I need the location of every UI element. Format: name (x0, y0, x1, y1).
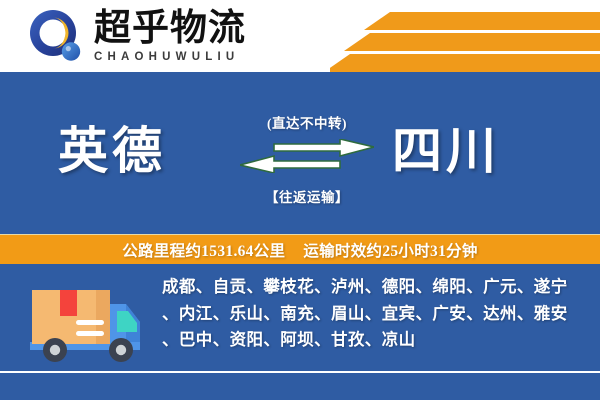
orange-speed-stripes-icon (330, 0, 600, 72)
coverage-panel: 成都、自贡、攀枝花、泸州、德阳、绵阳、广元、遂宁 、内江、乐山、南充、眉山、宜宾… (0, 264, 600, 400)
city-line: 成都、自贡、攀枝花、泸州、德阳、绵阳、广元、遂宁 (162, 274, 590, 301)
origin-city: 英德 (58, 124, 166, 178)
distance-text: 公路里程约1531.64公里 (122, 239, 285, 261)
circular-q-logo-icon (28, 8, 84, 64)
destination-city: 四川 (392, 124, 500, 178)
city-line: 、巴中、资阳、阿坝、甘孜、凉山 (162, 327, 590, 354)
route-middle-group: (直达不中转) 【往返运输】 (238, 110, 376, 206)
bottom-divider (0, 371, 600, 373)
direct-shipping-note: (直达不中转) (267, 112, 347, 132)
brand-logo-group: 超乎物流 CHAOHUWULIU (28, 8, 246, 64)
shipping-info-bar: 公路里程约1531.64公里 运输时效约25小时31分钟 (0, 234, 600, 264)
city-line: 、内江、乐山、南充、眉山、宜宾、广安、达州、雅安 (162, 301, 590, 328)
roundtrip-note: 【往返运输】 (265, 186, 349, 206)
bidirectional-arrow-icon (240, 139, 374, 178)
route-panel: 英德 (直达不中转) 【往返运输】 四川 (0, 72, 600, 232)
logistics-route-banner: 超乎物流 CHAOHUWULIU 英德 (直达不中转) 【往返运输】 四川 (0, 0, 600, 400)
brand-text-block: 超乎物流 CHAOHUWULIU (94, 9, 246, 64)
brand-name-en: CHAOHUWULIU (94, 50, 246, 64)
brand-name-cn: 超乎物流 (94, 9, 246, 49)
delivery-truck-icon (22, 280, 148, 366)
covered-cities-list: 成都、自贡、攀枝花、泸州、德阳、绵阳、广元、遂宁 、内江、乐山、南充、眉山、宜宾… (162, 274, 590, 354)
duration-text: 运输时效约25小时31分钟 (303, 239, 477, 261)
banner-header: 超乎物流 CHAOHUWULIU (0, 0, 600, 72)
